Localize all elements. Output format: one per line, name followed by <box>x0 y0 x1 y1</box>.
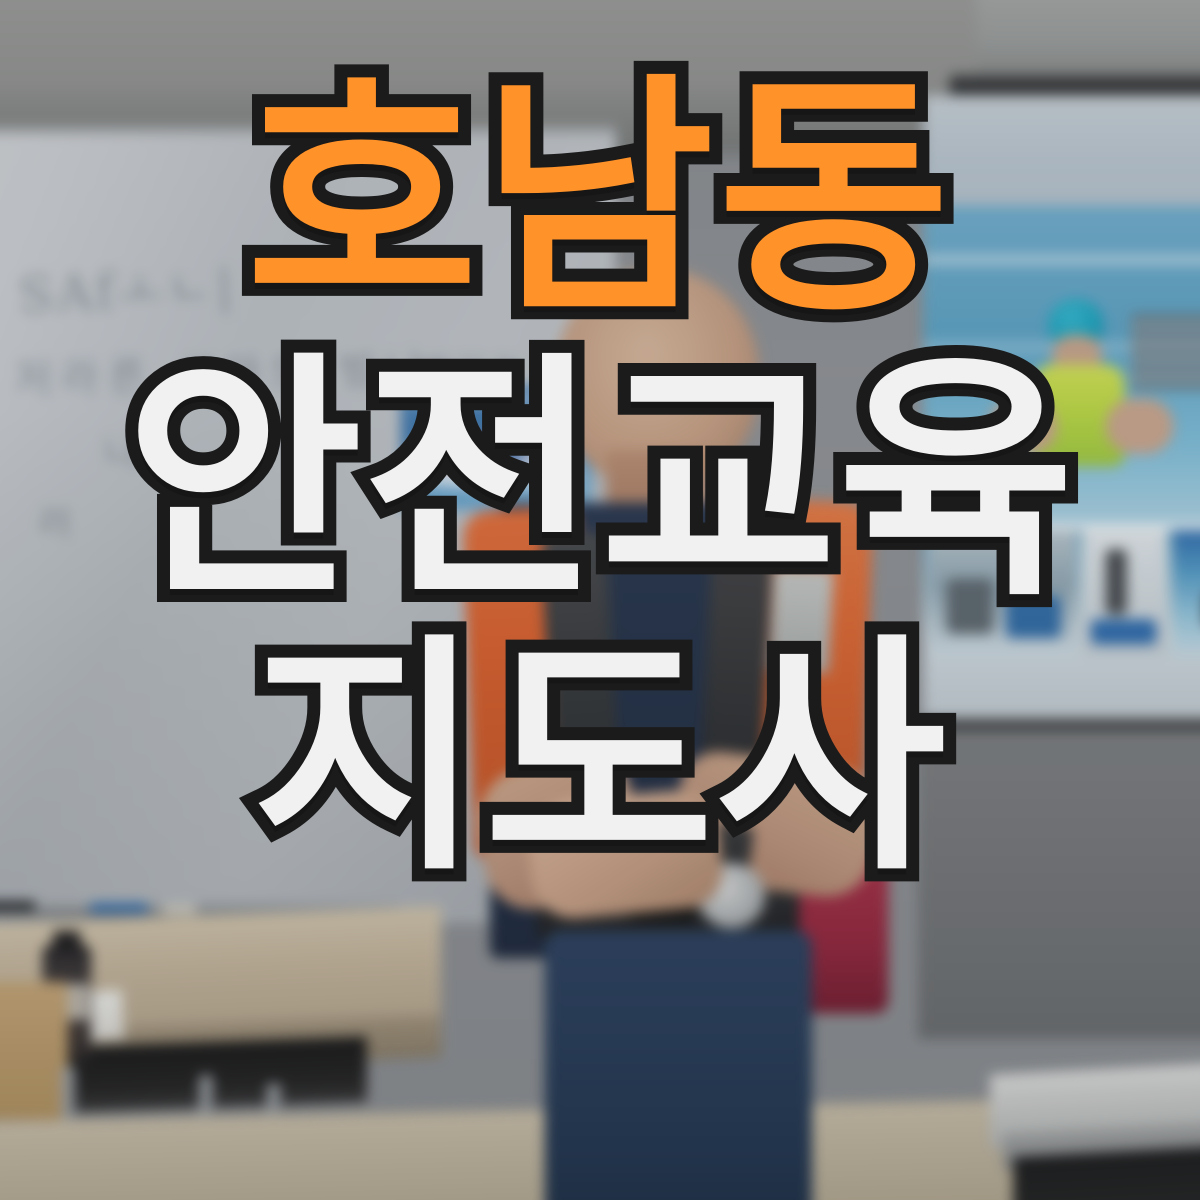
background-photo: SAfㅗㄴ| 저라른 설아드 빙나 나울 러 뺏잇늘 <box>0 0 1200 1200</box>
photo-tone-overlay <box>0 0 1200 1200</box>
poster-image: SAfㅗㄴ| 저라른 설아드 빙나 나울 러 뺏잇늘 <box>0 0 1200 1200</box>
